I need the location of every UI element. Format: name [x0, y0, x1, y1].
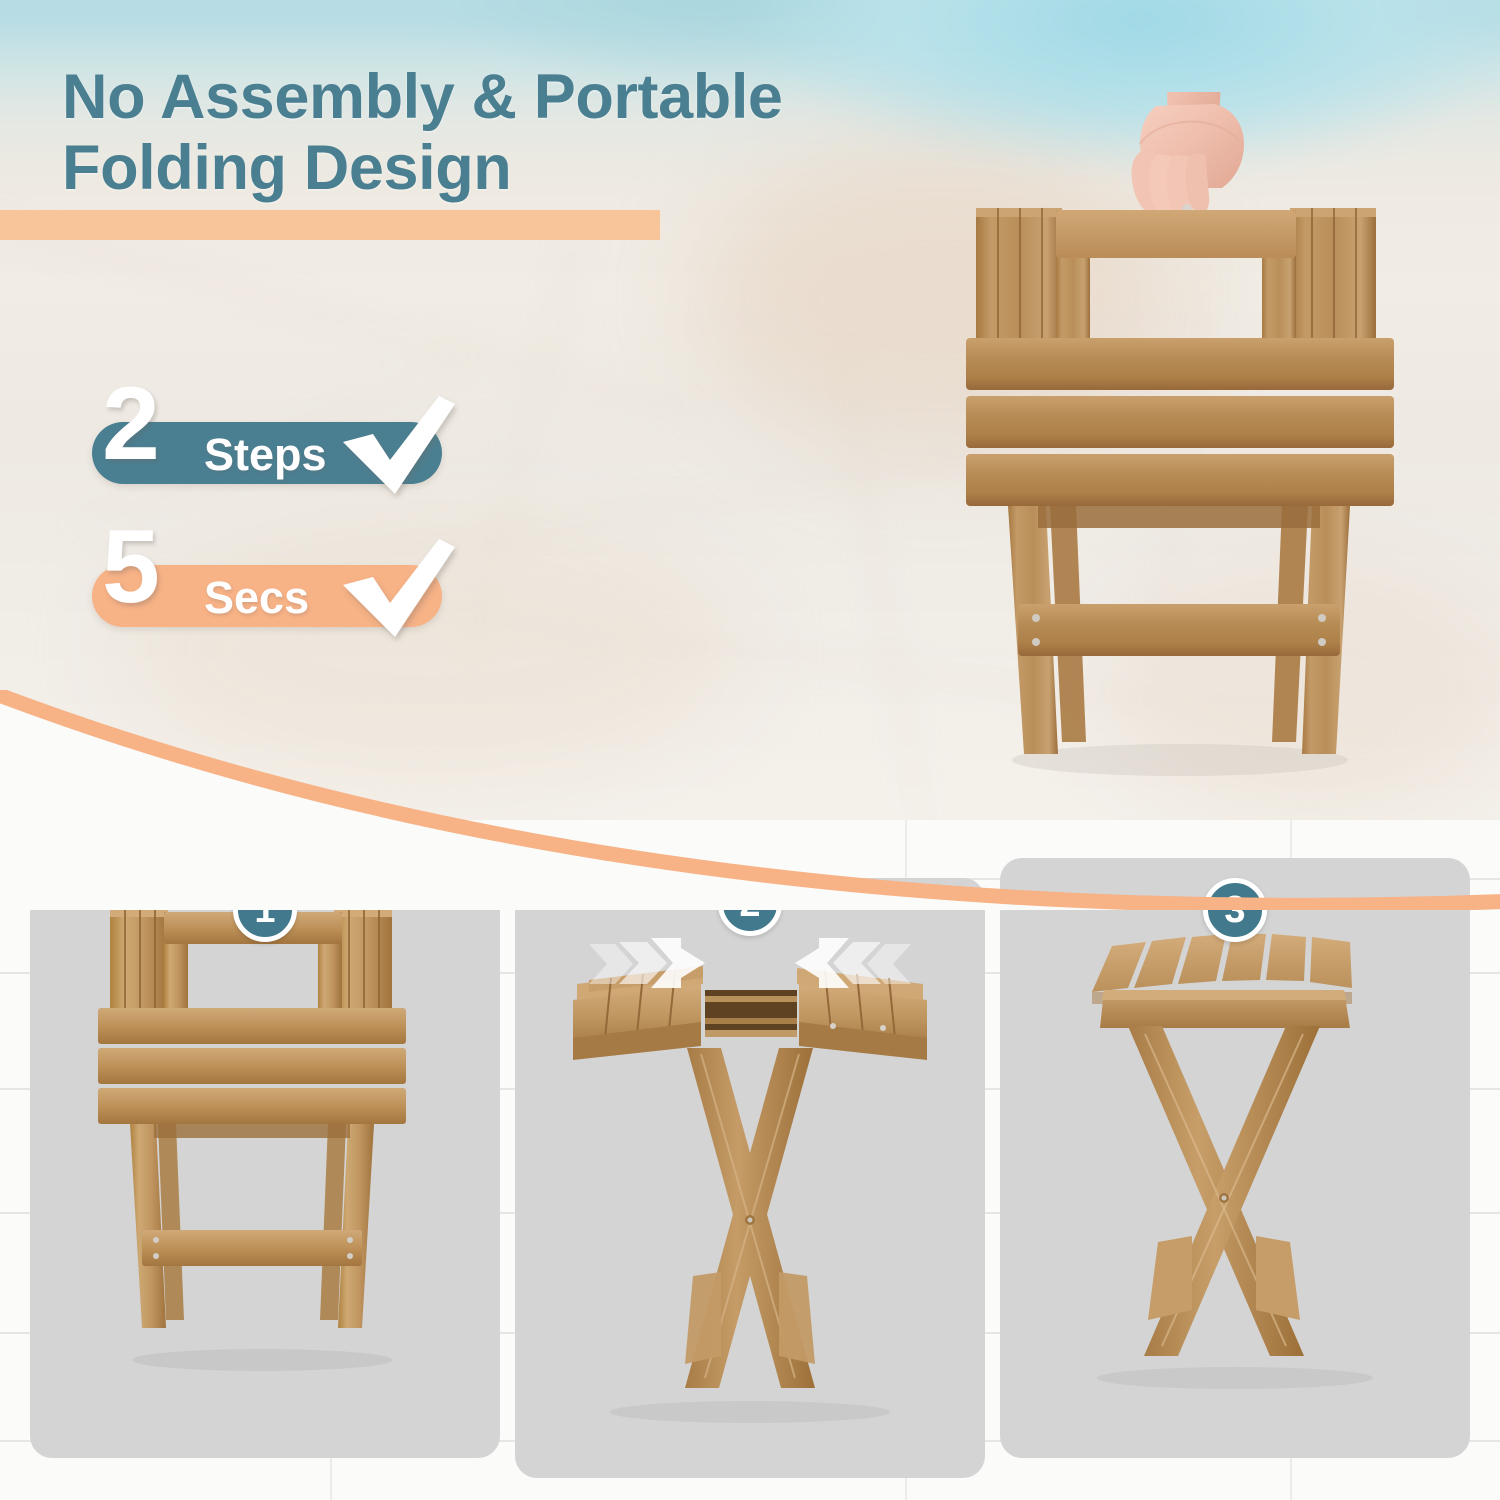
- step-panel-3[interactable]: 3: [1000, 858, 1470, 1458]
- check-icon: [335, 533, 460, 643]
- step-panel-2[interactable]: 2: [515, 878, 985, 1478]
- folded-apron-slats: [966, 338, 1394, 506]
- hero-product-image: [960, 92, 1400, 782]
- page-title: No Assembly & Portable Folding Design: [62, 62, 1022, 203]
- chevron-arrows-inward-icon: [589, 938, 911, 988]
- headline-block: No Assembly & Portable Folding Design: [62, 62, 1022, 203]
- step-3-product-image: [1000, 858, 1470, 1458]
- check-icon: [335, 390, 460, 500]
- headline-highlight-bar: [0, 210, 660, 240]
- badge-secs-label: Secs: [204, 575, 309, 620]
- step-panel-1[interactable]: 1: [30, 858, 500, 1458]
- badge-steps-number: 2: [102, 372, 160, 476]
- step-1-product-image: [30, 858, 500, 1458]
- step-2-product-image: [515, 878, 985, 1478]
- badge-steps-label: Steps: [204, 432, 327, 477]
- steps-section: 1: [0, 820, 1500, 1500]
- badge-secs-number: 5: [102, 515, 160, 619]
- curved-divider: [0, 690, 1500, 910]
- hand-icon: [1132, 92, 1245, 218]
- centre-rails: [705, 990, 797, 1037]
